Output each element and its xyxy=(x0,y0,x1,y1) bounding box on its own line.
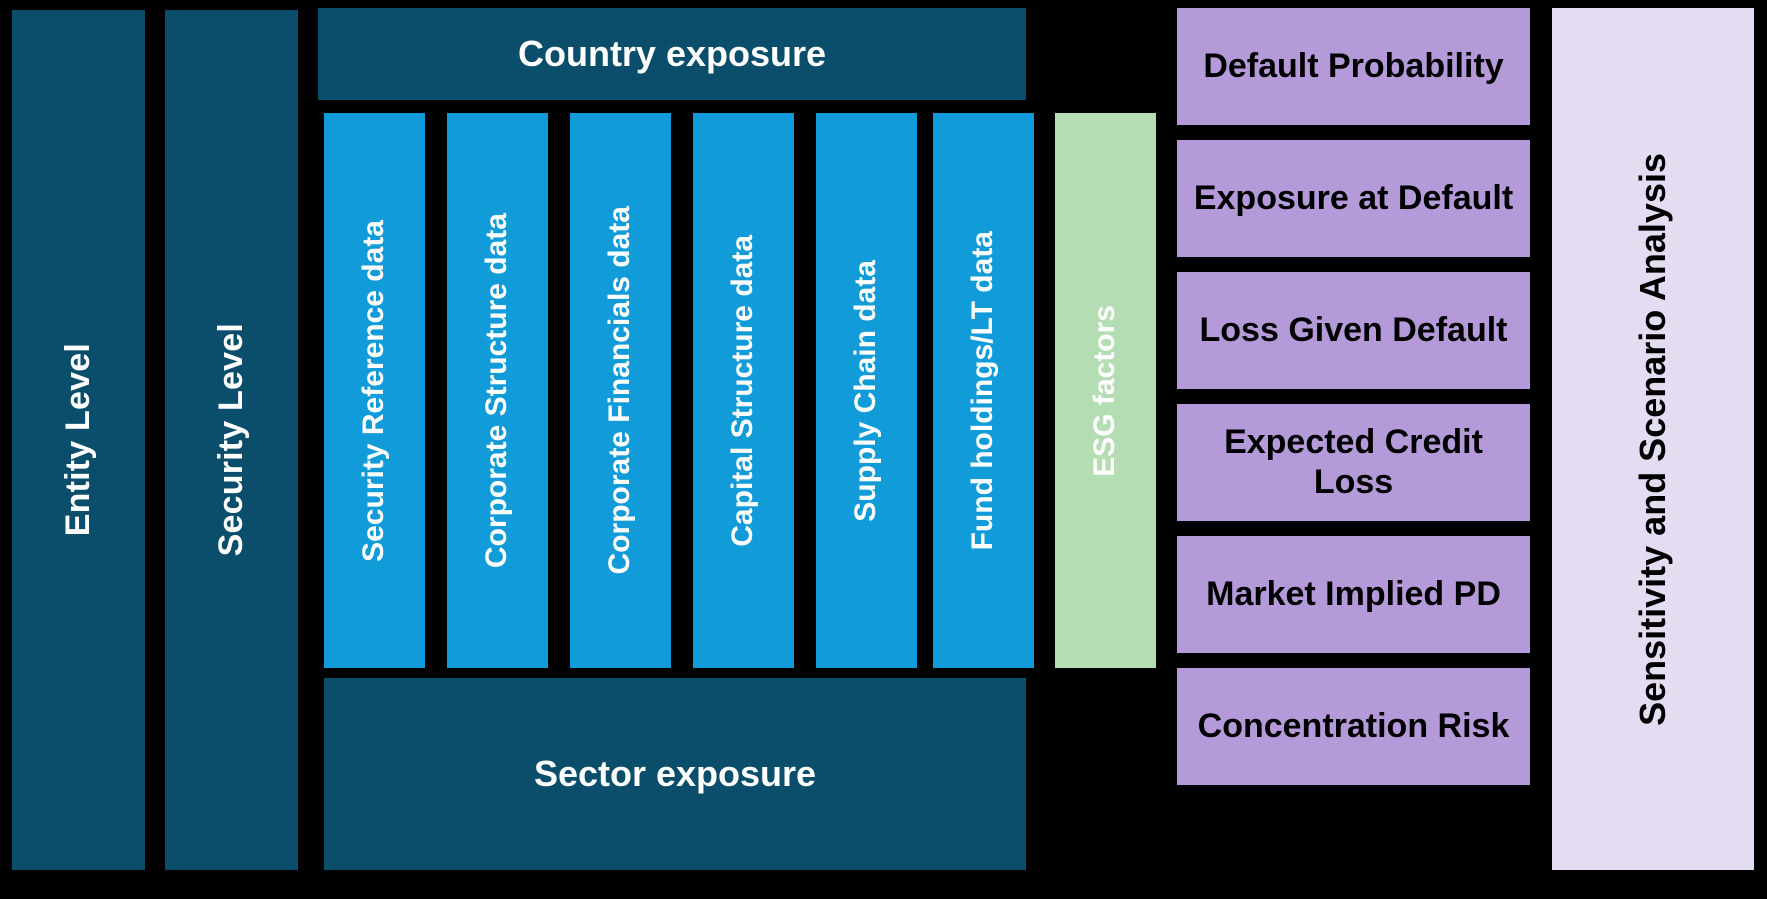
diagram-canvas: Entity Level Security Level Country expo… xyxy=(0,0,1767,899)
sensitivity-scenario-analysis-panel[interactable]: Sensitivity and Scenario Analysis xyxy=(1552,8,1754,870)
esg-factors-label: ESG factors xyxy=(1088,305,1123,477)
country-exposure-band[interactable]: Country exposure xyxy=(318,8,1026,100)
security-level-column[interactable]: Security Level xyxy=(165,10,298,870)
metric-label: Default Probability xyxy=(1203,47,1503,86)
data-column-security-reference[interactable]: Security Reference data xyxy=(324,113,425,668)
metric-loss-given-default[interactable]: Loss Given Default xyxy=(1177,272,1530,389)
metric-label: Concentration Risk xyxy=(1198,707,1510,746)
data-column-corporate-financials[interactable]: Corporate Financials data xyxy=(570,113,671,668)
metric-label: Expected Credit Loss xyxy=(1183,423,1524,501)
sensitivity-scenario-analysis-label: Sensitivity and Scenario Analysis xyxy=(1632,153,1673,726)
data-column-label: Corporate Structure data xyxy=(480,213,515,568)
data-column-fund-holdings[interactable]: Fund holdings/LT data xyxy=(933,113,1034,668)
country-exposure-label: Country exposure xyxy=(518,33,826,74)
data-column-supply-chain[interactable]: Supply Chain data xyxy=(816,113,917,668)
metric-default-probability[interactable]: Default Probability xyxy=(1177,8,1530,125)
sector-exposure-label: Sector exposure xyxy=(534,753,816,794)
esg-factors-column[interactable]: ESG factors xyxy=(1055,113,1156,668)
metric-label: Loss Given Default xyxy=(1200,311,1508,350)
metric-label: Market Implied PD xyxy=(1206,575,1501,614)
metric-market-implied-pd[interactable]: Market Implied PD xyxy=(1177,536,1530,653)
metric-exposure-at-default[interactable]: Exposure at Default xyxy=(1177,140,1530,257)
security-level-label: Security Level xyxy=(212,323,251,556)
entity-level-label: Entity Level xyxy=(59,343,98,536)
metric-concentration-risk[interactable]: Concentration Risk xyxy=(1177,668,1530,785)
data-column-capital-structure[interactable]: Capital Structure data xyxy=(693,113,794,668)
data-column-label: Security Reference data xyxy=(357,220,392,562)
metric-expected-credit-loss[interactable]: Expected Credit Loss xyxy=(1177,404,1530,521)
data-column-label: Fund holdings/LT data xyxy=(966,231,1001,550)
metric-label: Exposure at Default xyxy=(1194,179,1513,218)
sector-exposure-band[interactable]: Sector exposure xyxy=(324,678,1026,870)
data-column-label: Corporate Financials data xyxy=(603,206,638,574)
entity-level-column[interactable]: Entity Level xyxy=(12,10,145,870)
data-column-label: Capital Structure data xyxy=(726,235,761,547)
data-column-corporate-structure[interactable]: Corporate Structure data xyxy=(447,113,548,668)
data-column-label: Supply Chain data xyxy=(849,260,884,522)
